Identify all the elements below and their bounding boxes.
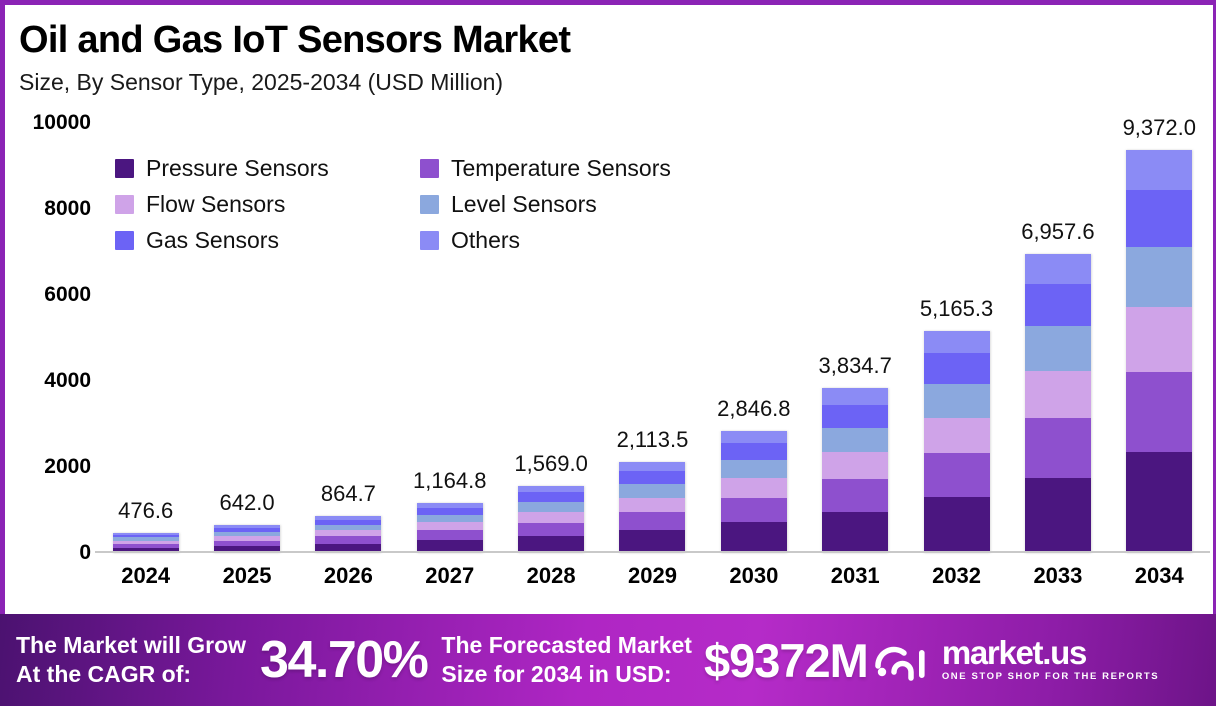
- bar-segment-flow-sensors[interactable]: [417, 522, 483, 530]
- x-axis-label: 2031: [805, 563, 906, 599]
- chart-header: Oil and Gas IoT Sensors Market Size, By …: [19, 18, 570, 97]
- bar-segment-gas-sensors[interactable]: [721, 443, 787, 460]
- x-axis: 2024202520262027202820292030203120322033…: [95, 563, 1210, 599]
- bar-segment-others[interactable]: [721, 431, 787, 443]
- bar-stack[interactable]: [721, 431, 787, 553]
- bar-total-label: 642.0: [220, 490, 275, 516]
- bar-segment-pressure-sensors[interactable]: [721, 522, 787, 553]
- bar-stack[interactable]: [822, 388, 888, 553]
- bar-segment-flow-sensors[interactable]: [1025, 371, 1091, 419]
- market-us-logo-icon: [874, 638, 932, 682]
- y-axis-tick: 4000: [5, 369, 91, 393]
- chart-subtitle: Size, By Sensor Type, 2025-2034 (USD Mil…: [19, 67, 570, 97]
- bar-segment-gas-sensors[interactable]: [1126, 190, 1192, 246]
- bar-segment-temperature-sensors[interactable]: [315, 536, 381, 543]
- bar-total-label: 2,113.5: [617, 427, 689, 453]
- bar-stack[interactable]: [518, 486, 584, 553]
- x-axis-label: 2025: [196, 563, 297, 599]
- bar-segment-level-sensors[interactable]: [417, 515, 483, 523]
- cagr-value: 34.70%: [260, 630, 427, 690]
- size-caption-line1: The Forecasted Market: [441, 631, 692, 660]
- bar-stack[interactable]: [619, 462, 685, 553]
- bar-stack[interactable]: [214, 525, 280, 553]
- bar-segment-gas-sensors[interactable]: [822, 405, 888, 428]
- bar-segment-gas-sensors[interactable]: [518, 492, 584, 501]
- bar-segment-temperature-sensors[interactable]: [1025, 418, 1091, 478]
- bar-total-label: 864.7: [321, 481, 376, 507]
- bar-segment-flow-sensors[interactable]: [822, 452, 888, 478]
- x-axis-label: 2029: [602, 563, 703, 599]
- bar-segment-pressure-sensors[interactable]: [1126, 452, 1192, 553]
- y-axis-tick: 0: [5, 541, 91, 565]
- forecast-size-value: $9372M: [704, 633, 868, 688]
- bar-segment-temperature-sensors[interactable]: [619, 512, 685, 530]
- bar-segment-temperature-sensors[interactable]: [721, 498, 787, 522]
- bar-segment-temperature-sensors[interactable]: [924, 453, 990, 497]
- y-axis-tick: 10000: [5, 111, 91, 135]
- size-caption-line2: Size for 2034 in USD:: [441, 660, 692, 689]
- bar-total-label: 9,372.0: [1123, 115, 1196, 141]
- bar-segment-flow-sensors[interactable]: [924, 418, 990, 454]
- bar-stack[interactable]: [113, 533, 179, 553]
- bar-segment-temperature-sensors[interactable]: [1126, 372, 1192, 453]
- bar-column[interactable]: 864.7: [298, 123, 399, 553]
- y-axis: 0200040006000800010000: [5, 123, 91, 553]
- bar-segment-pressure-sensors[interactable]: [924, 497, 990, 553]
- bar-segment-gas-sensors[interactable]: [1025, 284, 1091, 326]
- bar-total-label: 5,165.3: [920, 296, 993, 322]
- bar-segment-flow-sensors[interactable]: [721, 478, 787, 498]
- bar-segment-level-sensors[interactable]: [1126, 247, 1192, 307]
- bar-segment-flow-sensors[interactable]: [518, 512, 584, 523]
- bar-total-label: 1,164.8: [413, 468, 486, 494]
- forecast-size-caption: The Forecasted Market Size for 2034 in U…: [441, 631, 692, 689]
- bar-column[interactable]: 6,957.6: [1007, 123, 1108, 553]
- bar-column[interactable]: 5,165.3: [906, 123, 1007, 553]
- bar-segment-others[interactable]: [518, 486, 584, 493]
- bar-column[interactable]: 1,569.0: [500, 123, 601, 553]
- y-axis-tick: 2000: [5, 455, 91, 479]
- bar-segment-pressure-sensors[interactable]: [619, 530, 685, 553]
- bar-segment-level-sensors[interactable]: [1025, 326, 1091, 371]
- x-axis-label: 2034: [1109, 563, 1210, 599]
- bar-column[interactable]: 2,113.5: [602, 123, 703, 553]
- bar-segment-gas-sensors[interactable]: [417, 508, 483, 515]
- page-title: Oil and Gas IoT Sensors Market: [19, 18, 570, 62]
- bar-column[interactable]: 2,846.8: [703, 123, 804, 553]
- bar-column[interactable]: 1,164.8: [399, 123, 500, 553]
- bar-segment-others[interactable]: [924, 331, 990, 353]
- bar-segment-others[interactable]: [822, 388, 888, 404]
- bar-column[interactable]: 9,372.0: [1109, 123, 1210, 553]
- cagr-caption-line1: The Market will Grow: [16, 631, 246, 660]
- bar-segment-level-sensors[interactable]: [721, 460, 787, 478]
- x-axis-label: 2027: [399, 563, 500, 599]
- bar-segment-flow-sensors[interactable]: [1126, 307, 1192, 371]
- logo-name: market.us: [942, 636, 1159, 669]
- y-axis-tick: 8000: [5, 197, 91, 221]
- bar-stack[interactable]: [1126, 150, 1192, 553]
- bar-segment-temperature-sensors[interactable]: [518, 523, 584, 536]
- bar-column[interactable]: 642.0: [196, 123, 297, 553]
- bar-segment-level-sensors[interactable]: [924, 384, 990, 417]
- bar-total-label: 2,846.8: [717, 396, 790, 422]
- x-axis-label: 2032: [906, 563, 1007, 599]
- cagr-caption: The Market will Grow At the CAGR of:: [16, 631, 246, 689]
- bar-segment-level-sensors[interactable]: [619, 484, 685, 498]
- x-axis-baseline: [95, 551, 1210, 553]
- bar-segment-flow-sensors[interactable]: [619, 498, 685, 513]
- x-axis-label: 2030: [703, 563, 804, 599]
- bar-total-label: 476.6: [118, 498, 173, 524]
- summary-banner: The Market will Grow At the CAGR of: 34.…: [0, 614, 1216, 706]
- bar-total-label: 6,957.6: [1021, 219, 1094, 245]
- x-axis-label: 2026: [298, 563, 399, 599]
- x-axis-label: 2028: [500, 563, 601, 599]
- bar-total-label: 3,834.7: [818, 353, 891, 379]
- bar-column[interactable]: 476.6: [95, 123, 196, 553]
- bar-stack[interactable]: [1025, 254, 1091, 553]
- market-us-logo[interactable]: market.us ONE STOP SHOP FOR THE REPORTS: [874, 636, 1159, 684]
- bar-segment-others[interactable]: [619, 462, 685, 471]
- infographic-chart-page: Oil and Gas IoT Sensors Market Size, By …: [0, 0, 1216, 706]
- market-us-logo-text: market.us ONE STOP SHOP FOR THE REPORTS: [942, 636, 1159, 684]
- bar-segment-others[interactable]: [1025, 254, 1091, 284]
- y-axis-tick: 6000: [5, 283, 91, 307]
- bar-series-container: 476.6642.0864.71,164.81,569.02,113.52,84…: [95, 123, 1210, 553]
- chart-plot-area: 0200040006000800010000 Pressure SensorsT…: [5, 123, 1213, 609]
- bar-segment-temperature-sensors[interactable]: [822, 479, 888, 512]
- cagr-caption-line2: At the CAGR of:: [16, 660, 246, 689]
- bar-segment-pressure-sensors[interactable]: [1025, 478, 1091, 553]
- bar-segment-temperature-sensors[interactable]: [417, 530, 483, 540]
- x-axis-label: 2033: [1007, 563, 1108, 599]
- bar-segment-others[interactable]: [1126, 150, 1192, 190]
- bar-segment-level-sensors[interactable]: [518, 502, 584, 512]
- bar-total-label: 1,569.0: [514, 451, 587, 477]
- bar-segment-gas-sensors[interactable]: [619, 471, 685, 484]
- bar-stack[interactable]: [924, 331, 990, 553]
- bar-segment-pressure-sensors[interactable]: [822, 512, 888, 553]
- x-axis-label: 2024: [95, 563, 196, 599]
- bar-stack[interactable]: [417, 503, 483, 553]
- logo-tagline: ONE STOP SHOP FOR THE REPORTS: [942, 670, 1159, 684]
- bar-stack[interactable]: [315, 516, 381, 553]
- bar-segment-gas-sensors[interactable]: [924, 353, 990, 384]
- bar-column[interactable]: 3,834.7: [805, 123, 906, 553]
- bar-segment-level-sensors[interactable]: [822, 428, 888, 453]
